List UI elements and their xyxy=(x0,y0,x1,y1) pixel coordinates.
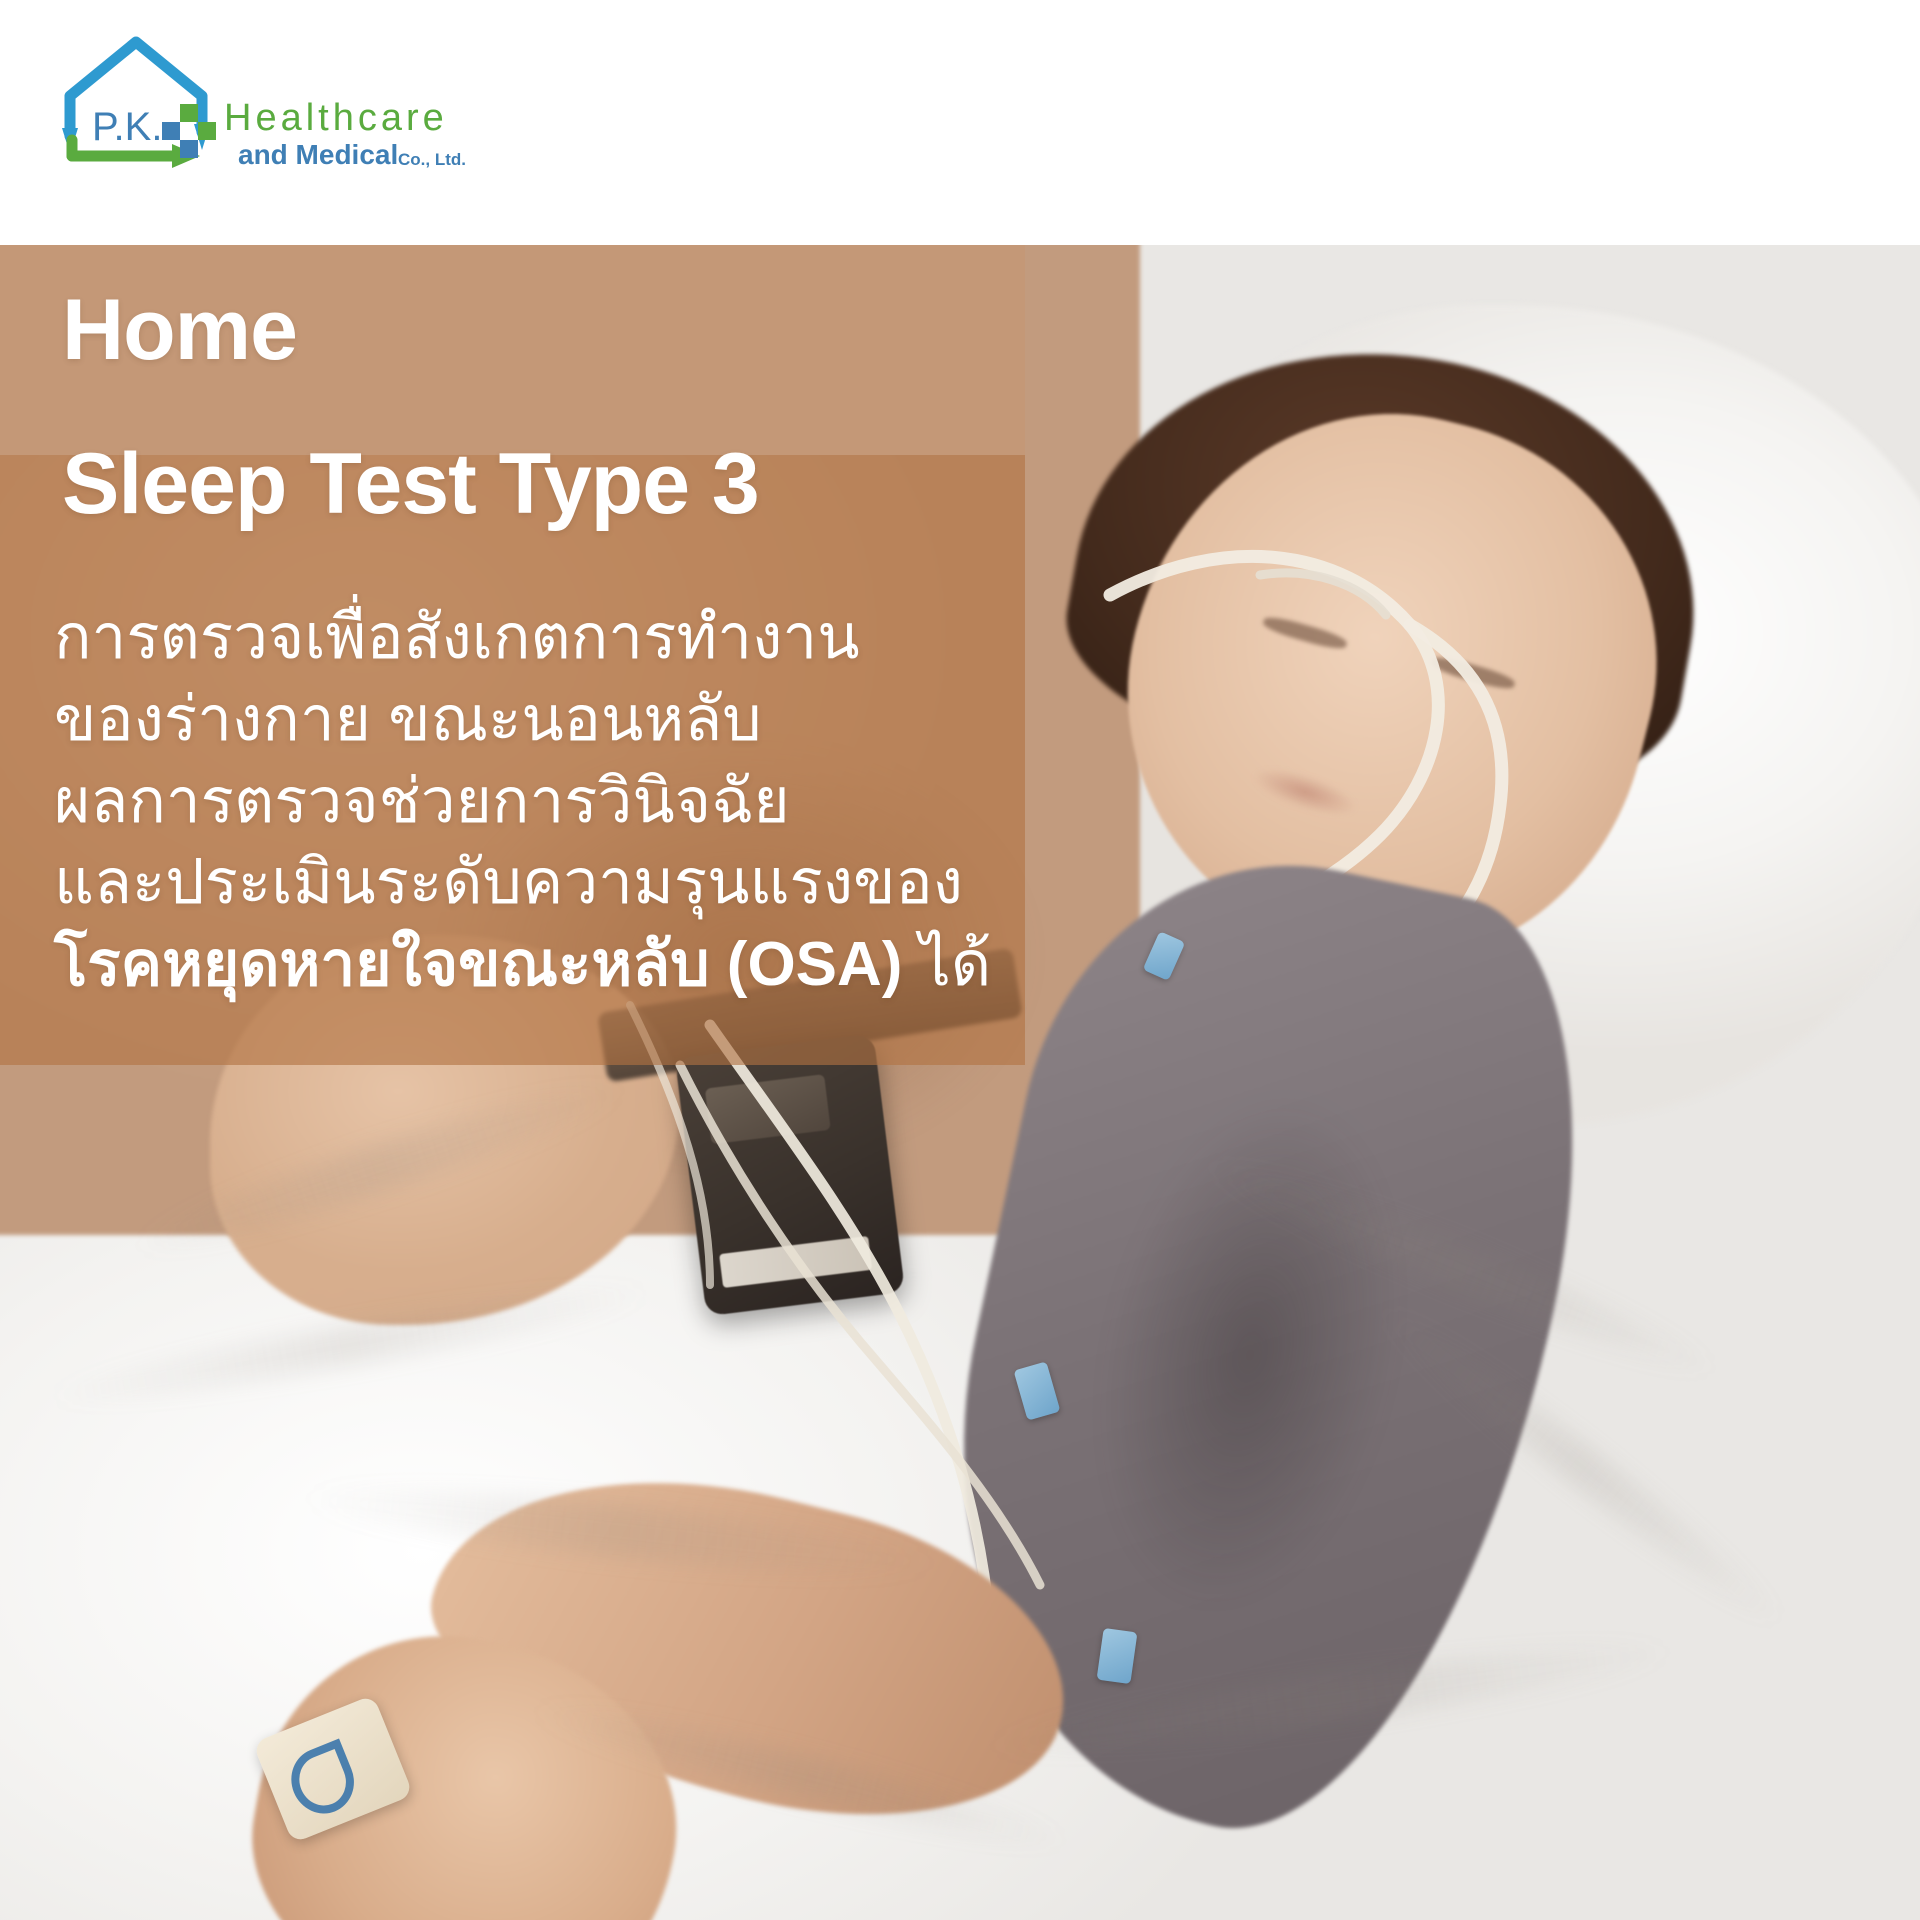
poster: Home Sleep Test Type 3 การตรวจเพื่อสังเก… xyxy=(0,0,1920,1920)
logo-initials: P.K. xyxy=(92,105,162,149)
body-copy: การตรวจเพื่อสังเกตการทำงาน ของร่างกาย ขณ… xyxy=(54,597,1014,1006)
body-line: การตรวจเพื่อสังเกตการทำงาน xyxy=(54,597,1014,679)
page-eyebrow: Home xyxy=(62,287,297,373)
page-title: Sleep Test Type 3 xyxy=(62,441,759,527)
body-line-tail: ได้ xyxy=(902,930,991,999)
body-line: ของร่างกาย ขณะนอนหลับ xyxy=(54,679,1014,761)
osa-term: โรคหยุดหายใจขณะหลับ (OSA) xyxy=(54,930,902,999)
oximeter-marking xyxy=(282,1739,364,1823)
logo-wordmark-primary: Healthcare xyxy=(224,97,448,139)
sensor-clip xyxy=(1097,1628,1138,1684)
body-line-emphasis: โรคหยุดหายใจขณะหลับ (OSA) ได้ xyxy=(54,924,1014,1006)
pk-healthcare-logo: P.K. Healthcare and Medical Co., Ltd. xyxy=(48,28,468,178)
logo-wordmark-suffix: Co., Ltd. xyxy=(398,150,466,169)
body-line: และประเมินระดับความรุนแรงของ xyxy=(54,842,1014,924)
body-line: ผลการตรวจช่วยการวินิจฉัย xyxy=(54,761,1014,843)
header-strip: P.K. Healthcare and Medical Co., Ltd. xyxy=(0,0,1920,245)
logo-wordmark-secondary: and Medical xyxy=(238,139,398,170)
